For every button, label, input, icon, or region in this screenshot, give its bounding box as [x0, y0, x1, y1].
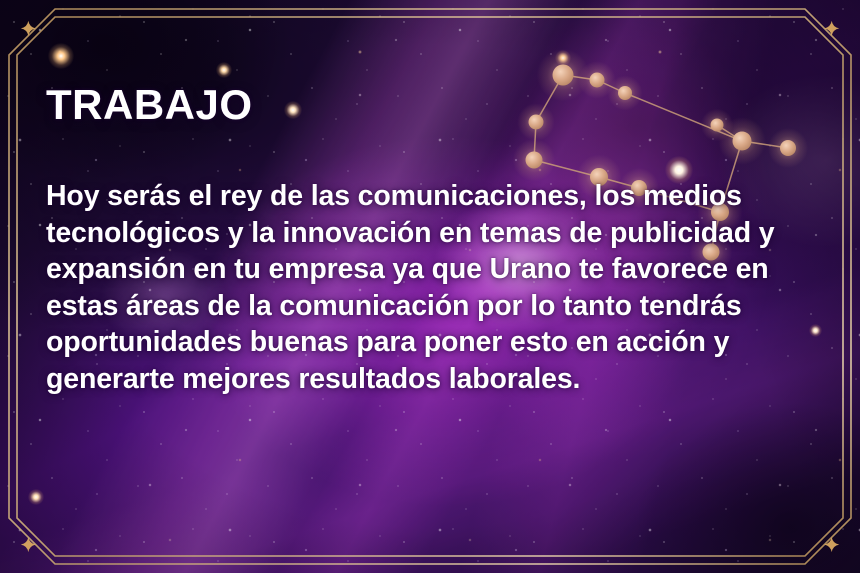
sparkle-icon [21, 537, 36, 552]
constellation-node [553, 65, 574, 86]
sparkle-icon [21, 21, 36, 36]
bright-star [216, 62, 232, 78]
constellation-line [563, 75, 597, 80]
bright-star [555, 50, 571, 66]
bright-star [48, 43, 74, 69]
text-content: TRABAJO Hoy serás el rey de las comunica… [46, 84, 836, 398]
horoscope-body-text: Hoy serás el rey de las comunicaciones, … [46, 178, 836, 398]
sparkle-icon [824, 21, 839, 36]
sparkle-icon [824, 537, 839, 552]
horoscope-card: TRABAJO Hoy serás el rey de las comunica… [0, 0, 860, 573]
page-title: TRABAJO [46, 84, 836, 126]
bright-star [28, 489, 44, 505]
